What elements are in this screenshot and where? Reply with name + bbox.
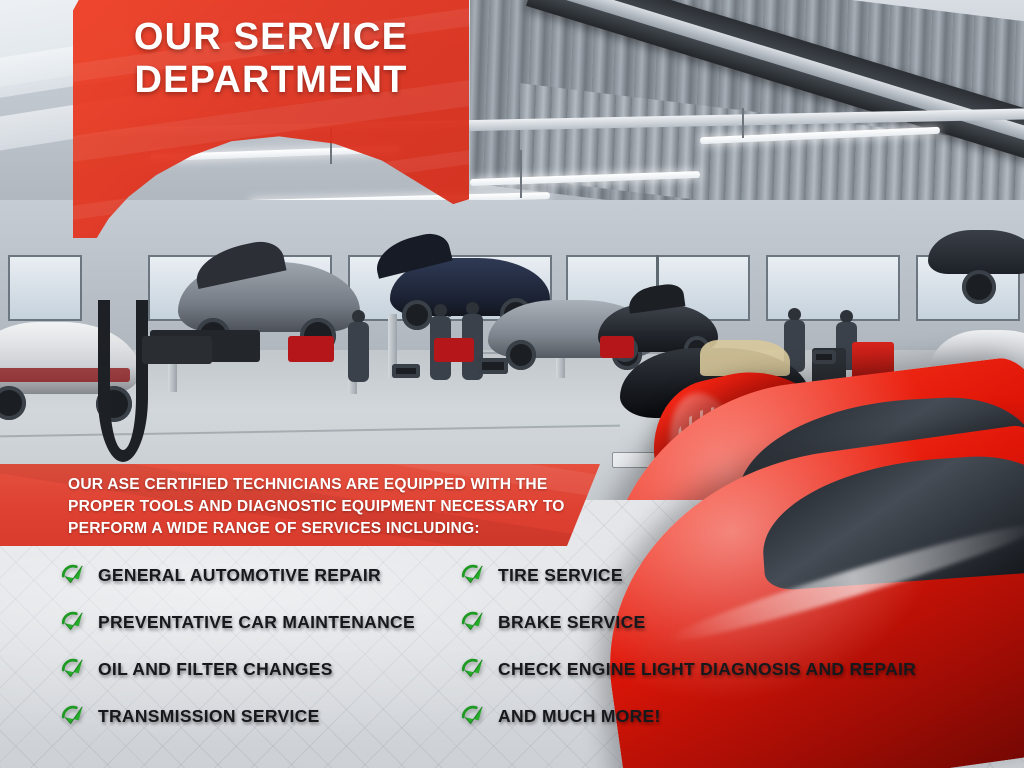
service-item: CHECK ENGINE LIGHT DIAGNOSIS AND REPAIR (460, 646, 1020, 693)
service-item: AND MUCH MORE! (460, 693, 1020, 740)
service-item: PREVENTATIVE CAR MAINTENANCE (60, 599, 480, 646)
green-check-icon (60, 657, 86, 683)
green-check-icon (460, 563, 486, 589)
service-label: BRAKE SERVICE (498, 612, 646, 633)
green-check-icon (60, 704, 86, 730)
service-label: CHECK ENGINE LIGHT DIAGNOSIS AND REPAIR (498, 659, 916, 680)
green-check-icon (60, 563, 86, 589)
intro-line-3: PERFORM A WIDE RANGE OF SERVICES INCLUDI… (68, 518, 608, 540)
service-department-poster: OUR SERVICE DEPARTMENT OUR ASE CERTIFIED… (0, 0, 1024, 768)
service-item: BRAKE SERVICE (460, 599, 1020, 646)
services-checklist: GENERAL AUTOMOTIVE REPAIR PREVENTATIVE C… (0, 552, 1024, 752)
service-label: OIL AND FILTER CHANGES (98, 659, 333, 680)
service-label: AND MUCH MORE! (498, 706, 661, 727)
green-check-icon (460, 704, 486, 730)
intro-line-2: PROPER TOOLS AND DIAGNOSTIC EQUIPMENT NE… (68, 496, 608, 518)
title-line-2: DEPARTMENT (81, 59, 461, 102)
intro-text: OUR ASE CERTIFIED TECHNICIANS ARE EQUIPP… (68, 474, 608, 540)
service-label: TRANSMISSION SERVICE (98, 706, 320, 727)
exhaust-hose (98, 300, 148, 462)
service-item: TRANSMISSION SERVICE (60, 693, 480, 740)
green-check-icon (60, 610, 86, 636)
service-label: PREVENTATIVE CAR MAINTENANCE (98, 612, 415, 633)
service-item: GENERAL AUTOMOTIVE REPAIR (60, 552, 480, 599)
service-item: OIL AND FILTER CHANGES (60, 646, 480, 693)
service-label: TIRE SERVICE (498, 565, 623, 586)
services-column-left: GENERAL AUTOMOTIVE REPAIR PREVENTATIVE C… (60, 552, 480, 740)
services-column-right: TIRE SERVICE BRAKE SERVICE CHECK ENGINE … (460, 552, 1020, 740)
green-check-icon (460, 610, 486, 636)
intro-line-1: OUR ASE CERTIFIED TECHNICIANS ARE EQUIPP… (68, 474, 608, 496)
service-item: TIRE SERVICE (460, 552, 1020, 599)
green-check-icon (460, 657, 486, 683)
page-title: OUR SERVICE DEPARTMENT (73, 16, 469, 103)
service-label: GENERAL AUTOMOTIVE REPAIR (98, 565, 381, 586)
title-line-1: OUR SERVICE (81, 16, 461, 59)
car-right-dark-lift (928, 230, 1024, 274)
